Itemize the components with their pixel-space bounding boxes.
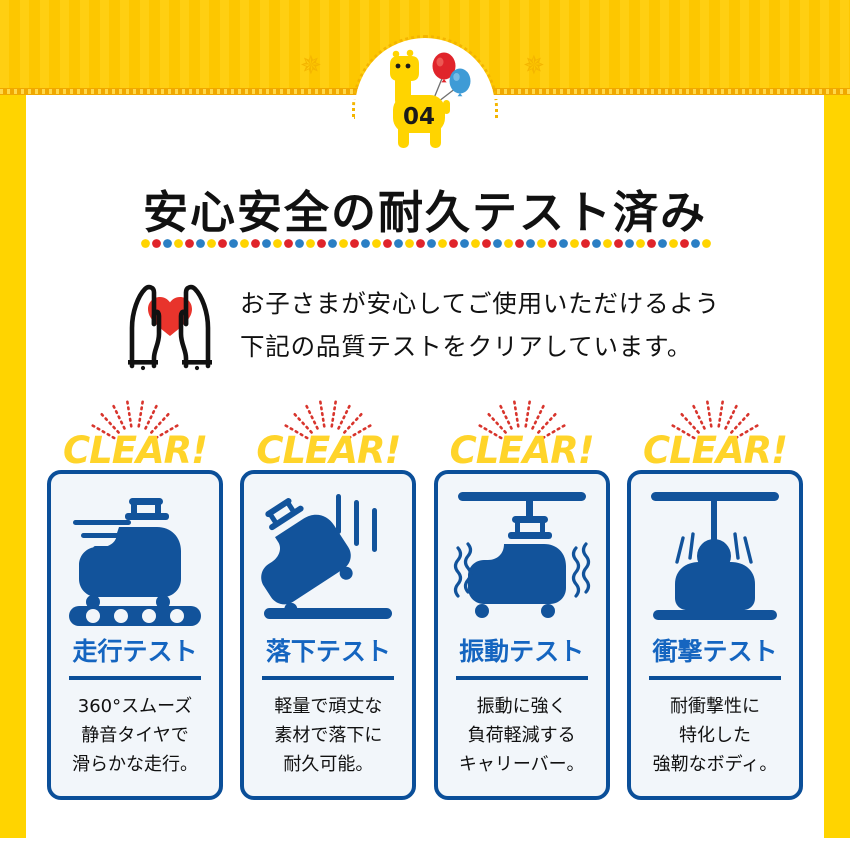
card-title: 走行テスト [72, 632, 197, 668]
clear-badge: CLEAR! [240, 392, 416, 470]
dot-divider [140, 238, 712, 249]
card-body-line: 負荷軽減する [459, 721, 585, 750]
star-icon: ✵ [523, 52, 545, 78]
card: 落下テスト 軽量で頑丈な 素材で落下に 耐久可能。 [240, 470, 416, 800]
mascot-number: 04 [403, 104, 435, 130]
card-body-line: 滑らかな走行。 [72, 750, 198, 779]
card: 振動テスト 振動に強く 負荷軽減する キャリーバー。 [434, 470, 610, 800]
subtitle-line-2: 下記の品質テストをクリアしています。 [240, 326, 720, 369]
card: 走行テスト 360°スムーズ 静音タイヤで 滑らかな走行。 [47, 470, 223, 800]
page-title: 安心安全の耐久テスト済み [0, 176, 850, 241]
test-card-row: CLEAR! [47, 392, 803, 800]
clear-label: CLEAR! [434, 429, 610, 472]
clear-label: CLEAR! [47, 429, 223, 472]
star-icon: ✵ [300, 52, 322, 78]
promo-graphic: ✵ ✵ 04 [0, 0, 850, 850]
subtitle-block: お子さまが安心してご使用いただけるよう 下記の品質テストをクリアしています。 [118, 276, 758, 376]
test-card-drop: CLEAR! [240, 392, 416, 800]
clear-label: CLEAR! [627, 429, 803, 472]
hands-holding-heart-icon [118, 280, 222, 372]
clear-badge: CLEAR! [47, 392, 223, 470]
clear-badge: CLEAR! [627, 392, 803, 470]
card-body-line: 耐衝撃性に [653, 692, 778, 721]
card-body: 軽量で頑丈な 素材で落下に 耐久可能。 [274, 692, 382, 779]
card-body-line: 360°スムーズ [72, 692, 198, 721]
card-body-line: 強靭なボディ。 [653, 750, 778, 779]
suitcase-impact-pendulum-icon [635, 480, 795, 630]
clear-badge: CLEAR! [434, 392, 610, 470]
card-rule [649, 676, 781, 680]
card-body-line: 軽量で頑丈な [274, 692, 382, 721]
giraffe-mascot-icon: 04 [370, 48, 485, 163]
card-rule [69, 676, 201, 680]
clear-label: CLEAR! [240, 429, 416, 472]
card-rule [456, 676, 588, 680]
suitcase-vibration-icon [442, 480, 602, 630]
subtitle-text: お子さまが安心してご使用いただけるよう 下記の品質テストをクリアしています。 [240, 283, 720, 368]
card-body-line: キャリーバー。 [459, 750, 585, 779]
card-body: 振動に強く 負荷軽減する キャリーバー。 [459, 692, 585, 779]
card-rule [262, 676, 394, 680]
card-body-line: 特化した [653, 721, 778, 750]
card-title: 衝撃テスト [652, 632, 777, 668]
suitcase-falling-icon [248, 480, 408, 630]
suitcase-on-conveyor-icon [55, 480, 215, 630]
card-body: 360°スムーズ 静音タイヤで 滑らかな走行。 [72, 692, 198, 779]
card-body-line: 静音タイヤで [72, 721, 198, 750]
card-title: 落下テスト [266, 632, 391, 668]
card-body: 耐衝撃性に 特化した 強靭なボディ。 [653, 692, 778, 779]
card-body-line: 振動に強く [459, 692, 585, 721]
card-title: 振動テスト [459, 632, 584, 668]
subtitle-line-1: お子さまが安心してご使用いただけるよう [240, 283, 720, 326]
card-body-line: 素材で落下に [274, 721, 382, 750]
test-card-impact: CLEAR! [627, 392, 803, 800]
card-body-line: 耐久可能。 [274, 750, 382, 779]
test-card-running: CLEAR! [47, 392, 223, 800]
card: 衝撃テスト 耐衝撃性に 特化した 強靭なボディ。 [627, 470, 803, 800]
test-card-vibration: CLEAR! [434, 392, 610, 800]
